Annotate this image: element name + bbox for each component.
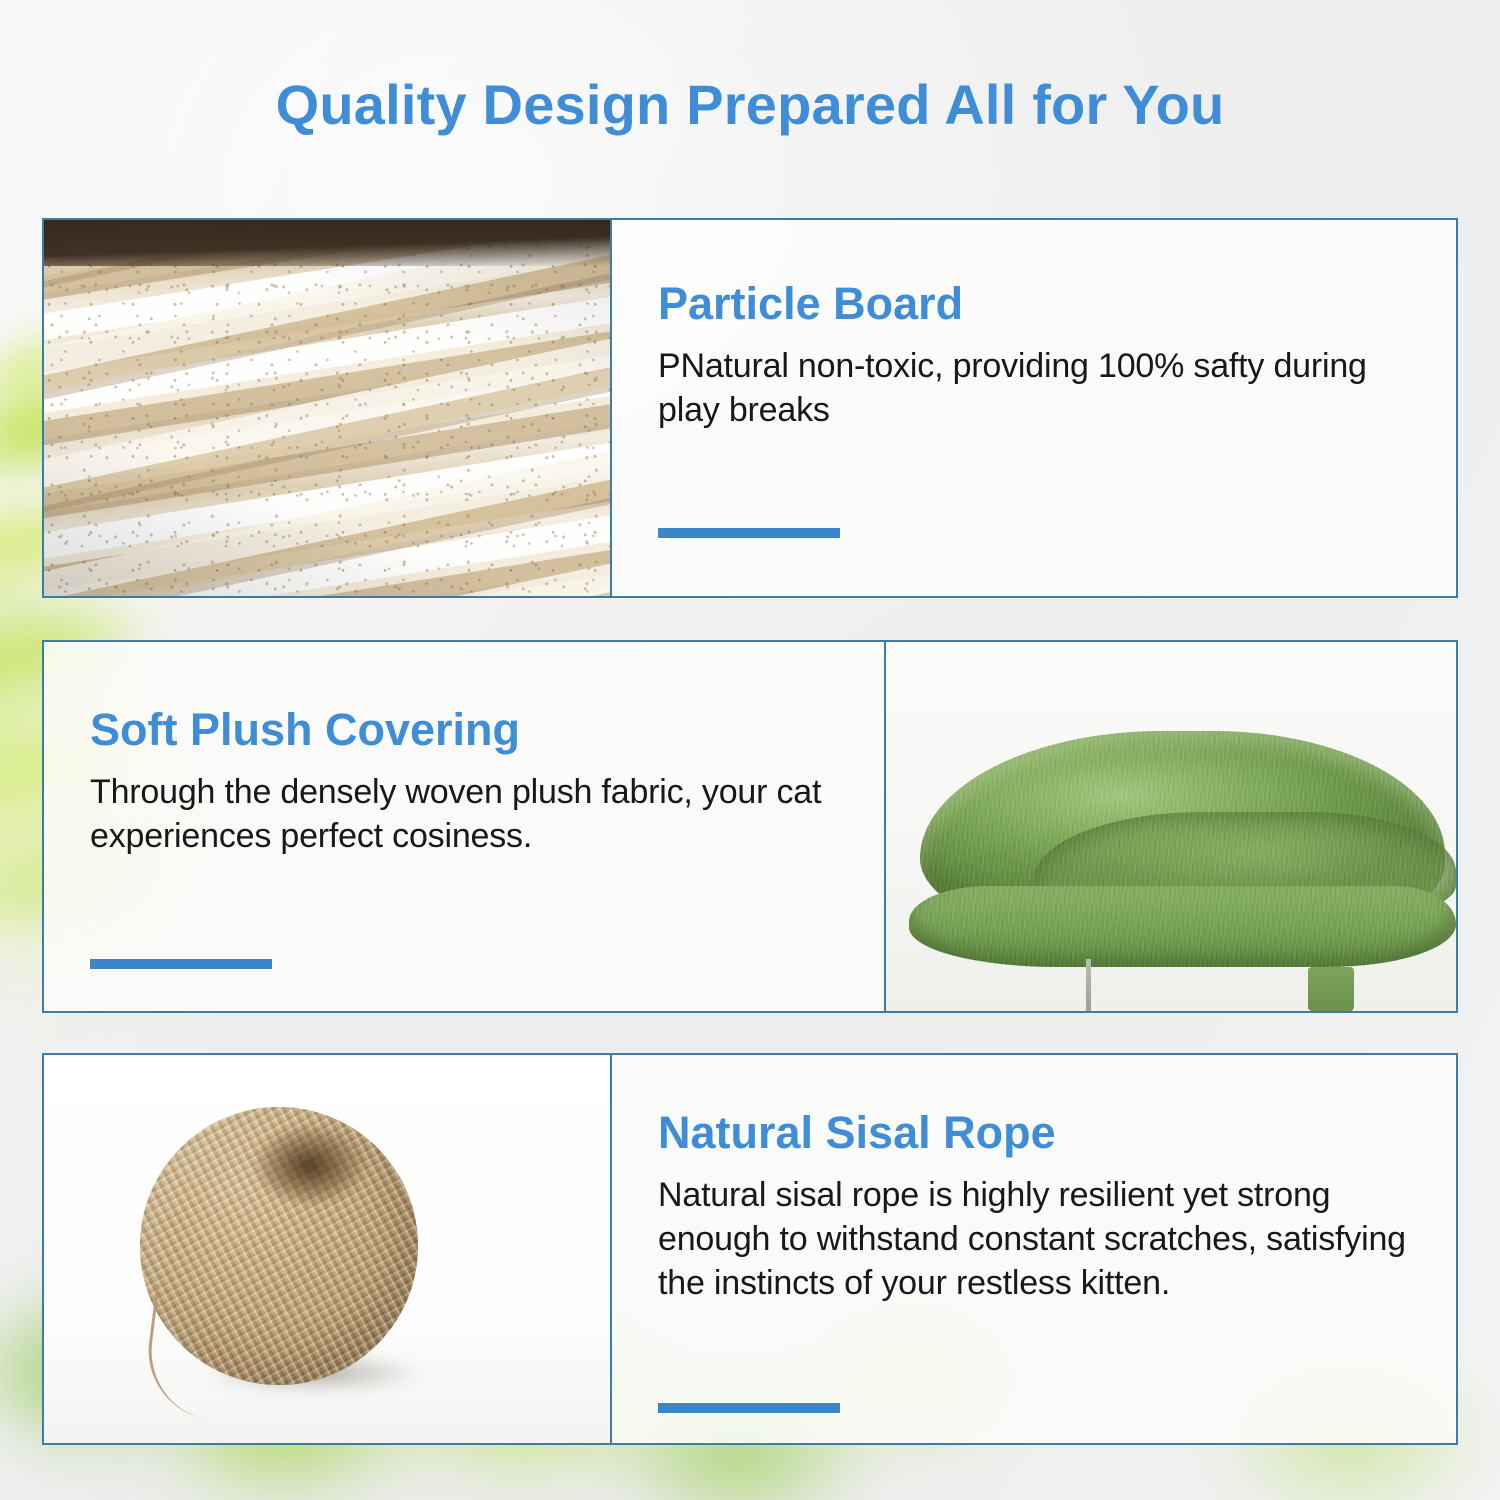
sisal-photo bbox=[44, 1055, 610, 1443]
infographic-page: Quality Design Prepared All for You Part… bbox=[0, 0, 1500, 1500]
plush-support-post bbox=[1086, 959, 1091, 1011]
sisal-text-panel: Natural Sisal Rope Natural sisal rope is… bbox=[610, 1055, 1456, 1443]
sisal-accent-bar bbox=[658, 1403, 840, 1413]
particle-board-accent-bar bbox=[658, 528, 840, 538]
sisal-title: Natural Sisal Rope bbox=[658, 1107, 1412, 1159]
feature-card-soft-plush-covering: Soft Plush Covering Through the densely … bbox=[42, 640, 1458, 1013]
plush-text-panel: Soft Plush Covering Through the densely … bbox=[44, 642, 886, 1011]
particle-board-photo bbox=[44, 220, 610, 596]
particle-board-text-panel: Particle Board PNatural non-toxic, provi… bbox=[610, 220, 1456, 596]
feature-card-particle-board: Particle Board PNatural non-toxic, provi… bbox=[42, 218, 1458, 598]
particle-board-title: Particle Board bbox=[658, 278, 1412, 330]
sisal-ball-core bbox=[251, 1124, 373, 1207]
plush-fur-texture bbox=[897, 716, 1456, 982]
plush-support-column bbox=[1308, 967, 1354, 1011]
plush-title: Soft Plush Covering bbox=[90, 704, 840, 756]
particle-board-body: PNatural non-toxic, providing 100% safty… bbox=[658, 344, 1412, 432]
sisal-body: Natural sisal rope is highly resilient y… bbox=[658, 1173, 1412, 1306]
page-title: Quality Design Prepared All for You bbox=[0, 72, 1500, 137]
plush-accent-bar bbox=[90, 959, 272, 969]
particle-board-shading bbox=[44, 220, 610, 596]
feature-card-natural-sisal-rope: Natural Sisal Rope Natural sisal rope is… bbox=[42, 1053, 1458, 1445]
plush-photo bbox=[886, 642, 1456, 1011]
plush-body: Through the densely woven plush fabric, … bbox=[90, 770, 840, 858]
